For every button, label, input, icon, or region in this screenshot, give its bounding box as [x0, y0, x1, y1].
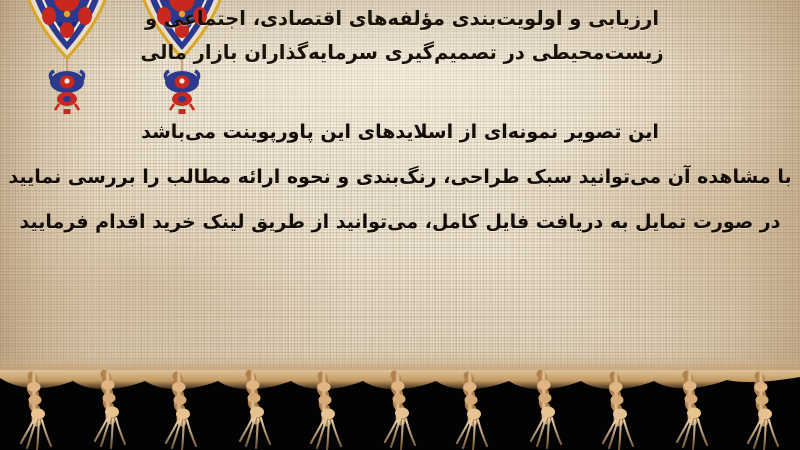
carpet-fringe	[0, 370, 800, 450]
slide-canvas: ارزیابی و اولویت‌بندی مؤلفه‌های اقتصادی،…	[0, 0, 800, 450]
title-line-1: ارزیابی و اولویت‌بندی مؤلفه‌های اقتصادی،…	[4, 2, 800, 36]
slide-title: ارزیابی و اولویت‌بندی مؤلفه‌های اقتصادی،…	[0, 2, 800, 70]
body-line-3: در صورت تمایل به دریافت فایل کامل، می‌تو…	[0, 200, 800, 245]
slide-body: این تصویر نمونه‌ای از اسلایدهای این پاور…	[0, 110, 800, 245]
body-line-1: این تصویر نمونه‌ای از اسلایدهای این پاور…	[0, 110, 800, 155]
body-line-2: با مشاهده آن می‌توانید سبک طراحی، رنگ‌بن…	[0, 155, 800, 200]
title-line-2: زیست‌محیطی در تصمیم‌گیری سرمایه‌گذاران ب…	[4, 36, 800, 70]
